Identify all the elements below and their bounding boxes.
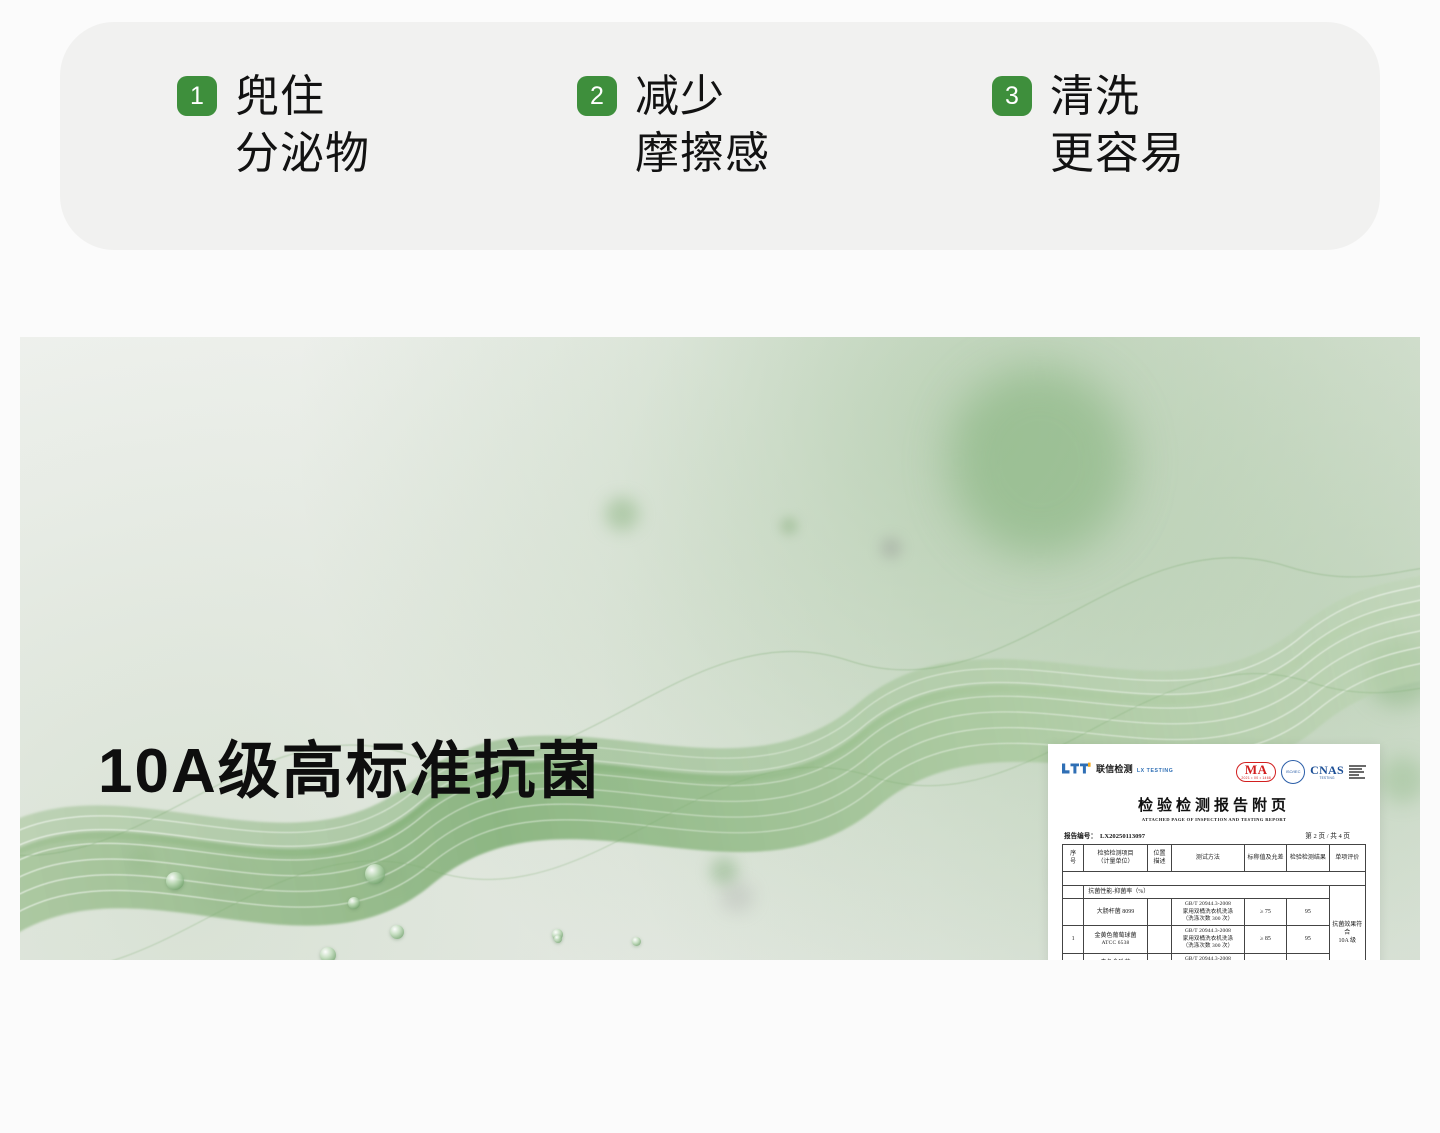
page-indicator: 第 2 页 / 共 4 页 — [1305, 830, 1350, 840]
th-position: 位置 描述 — [1147, 845, 1171, 872]
certificate-subtitle: ATTACHED PAGE OF INSPECTION AND TESTING … — [1062, 817, 1366, 822]
water-droplet — [320, 947, 336, 960]
th-serial: 序 号 — [1063, 845, 1084, 872]
feature-line2-3: 更容易 — [1050, 129, 1185, 178]
report-number: 报告编号：LX20250113097 — [1064, 830, 1145, 840]
feature-label-1: 兜住分泌物 — [235, 68, 370, 182]
feature-line1-2: 减少 — [635, 72, 725, 121]
feature-badge-1: 1 — [177, 76, 217, 116]
logo-mark-icon — [1062, 762, 1092, 775]
method-cell: GB/T 20944.3-2008 家用双桶洗衣机洗涤 （洗涤次数 300 次） — [1172, 899, 1245, 926]
inspection-report-document: 联信检测 LX TESTING MA 2021 • 00 • 1468 ISO/… — [1048, 744, 1380, 960]
method-cell: GB/T 20944.3-2008 家用双桶洗衣机洗涤 （洗涤次数 300 次） — [1172, 926, 1245, 953]
table-row: 白色念珠菌ATCC 10231 GB/T 20944.3-2008 家用双桶洗衣… — [1063, 953, 1366, 960]
item-cell: 金黄色葡萄球菌ATCC 6538 — [1084, 926, 1148, 953]
result-cell: 95 — [1287, 926, 1329, 953]
feature-badge-2: 2 — [577, 76, 617, 116]
bokeh-blob — [605, 497, 639, 531]
table-spacer-row — [1063, 872, 1366, 886]
table-header-row: 序 号 检验检测项目 （计量单位） 位置 描述 测试方法 标称值及允差 检验检测… — [1063, 845, 1366, 872]
logo-name-en: LX TESTING — [1137, 768, 1174, 774]
spec-cell: ≥ 75 — [1244, 899, 1286, 926]
position-cell — [1147, 926, 1171, 953]
water-droplet — [632, 937, 641, 946]
item-cell: 白色念珠菌ATCC 10231 — [1084, 953, 1148, 960]
th-evaluation: 单项评价 — [1329, 845, 1365, 872]
item-cell: 大肠杆菌 8099 — [1084, 899, 1148, 926]
hero-title: 10A级高标准抗菌 — [98, 741, 602, 803]
certificate-title: 检验检测报告附页 — [1062, 794, 1366, 815]
mark-textblock-icon — [1349, 765, 1366, 779]
feature-list: 1 兜住分泌物 2 减少摩擦感 3 清洗更容易 — [60, 22, 1380, 250]
feature-item-2: 2 减少摩擦感 — [577, 68, 992, 182]
serial-cell — [1063, 953, 1084, 960]
feature-item-1: 1 兜住分泌物 — [177, 68, 577, 182]
th-method: 测试方法 — [1172, 845, 1245, 872]
th-item: 检验检测项目 （计量单位） — [1084, 845, 1148, 872]
th-result: 检验检测结果 — [1287, 845, 1329, 872]
feature-badge-3: 3 — [992, 76, 1032, 116]
ma-mark-icon: MA 2021 • 00 • 1468 — [1236, 762, 1276, 783]
table-row: 大肠杆菌 8099 GB/T 20944.3-2008 家用双桶洗衣机洗涤 （洗… — [1063, 899, 1366, 926]
result-cell: 95 — [1287, 899, 1329, 926]
certificate-header: 联信检测 LX TESTING MA 2021 • 00 • 1468 ISO/… — [1062, 760, 1366, 784]
feature-label-2: 减少摩擦感 — [635, 68, 770, 182]
evaluation-cell: 抗菌效果符合 10A 级 — [1329, 886, 1365, 961]
serial-cell: 1 — [1063, 926, 1084, 953]
inspection-results-table: 序 号 检验检测项目 （计量单位） 位置 描述 测试方法 标称值及允差 检验检测… — [1062, 844, 1366, 960]
ma-mark-code: 2021 • 00 • 1468 — [1241, 776, 1271, 780]
table-group-row: 抗菌性能-抑菌率（%） 抗菌效果符合 10A 级 — [1063, 886, 1366, 899]
bokeh-blob — [780, 517, 798, 535]
serial-cell — [1063, 899, 1084, 926]
ma-mark-label: MA — [1241, 763, 1271, 777]
logo-text: 联信检测 LX TESTING — [1096, 760, 1173, 776]
lx-testing-logo: 联信检测 LX TESTING — [1062, 760, 1173, 776]
result-cell: 82 — [1287, 953, 1329, 960]
group-label-cell: 抗菌性能-抑菌率（%） — [1084, 886, 1329, 899]
feature-line2-2: 摩擦感 — [635, 129, 770, 178]
water-droplet — [554, 935, 562, 943]
feature-line1-3: 清洗 — [1050, 72, 1140, 121]
hero-banner: 10A级高标准抗菌 300次 水洗后依旧有效抗菌 *本次检测由第三方检测机构权威… — [20, 337, 1420, 960]
cnas-mark-icon: CNAS TESTING — [1310, 764, 1344, 780]
water-droplet — [166, 872, 184, 890]
spec-cell: ≥ 85 — [1244, 926, 1286, 953]
feature-item-3: 3 清洗更容易 — [992, 68, 1372, 182]
report-number-label: 报告编号： — [1064, 833, 1097, 840]
iso-seal-icon: ISO/IEC — [1281, 760, 1305, 784]
water-droplet — [365, 864, 385, 884]
feature-line1-1: 兜住 — [235, 72, 325, 121]
method-cell: GB/T 20944.3-2008 家用双桶洗衣机洗涤 （洗涤次数 300 次） — [1172, 953, 1245, 960]
position-cell — [1147, 953, 1171, 960]
cnas-label: CNAS — [1310, 764, 1344, 776]
table-row: 1 金黄色葡萄球菌ATCC 6538 GB/T 20944.3-2008 家用双… — [1063, 926, 1366, 953]
spec-cell: ≥ 70 — [1244, 953, 1286, 960]
certificate-meta: 报告编号：LX20250113097 第 2 页 / 共 4 页 — [1062, 830, 1366, 840]
feature-label-3: 清洗更容易 — [1050, 68, 1185, 182]
feature-card: 1 兜住分泌物 2 减少摩擦感 3 清洗更容易 — [60, 22, 1380, 250]
th-spec: 标称值及允差 — [1244, 845, 1286, 872]
water-droplet — [348, 897, 360, 909]
logo-name-cn: 联信检测 — [1096, 764, 1133, 774]
water-droplet — [390, 925, 404, 939]
feature-line2-1: 分泌物 — [235, 129, 370, 178]
accreditation-marks: MA 2021 • 00 • 1468 ISO/IEC CNAS TESTING — [1236, 760, 1366, 784]
iso-seal-label: ISO/IEC — [1286, 770, 1301, 774]
position-cell — [1147, 899, 1171, 926]
report-number-value: LX20250113097 — [1100, 833, 1145, 840]
group-serial-cell — [1063, 886, 1084, 899]
